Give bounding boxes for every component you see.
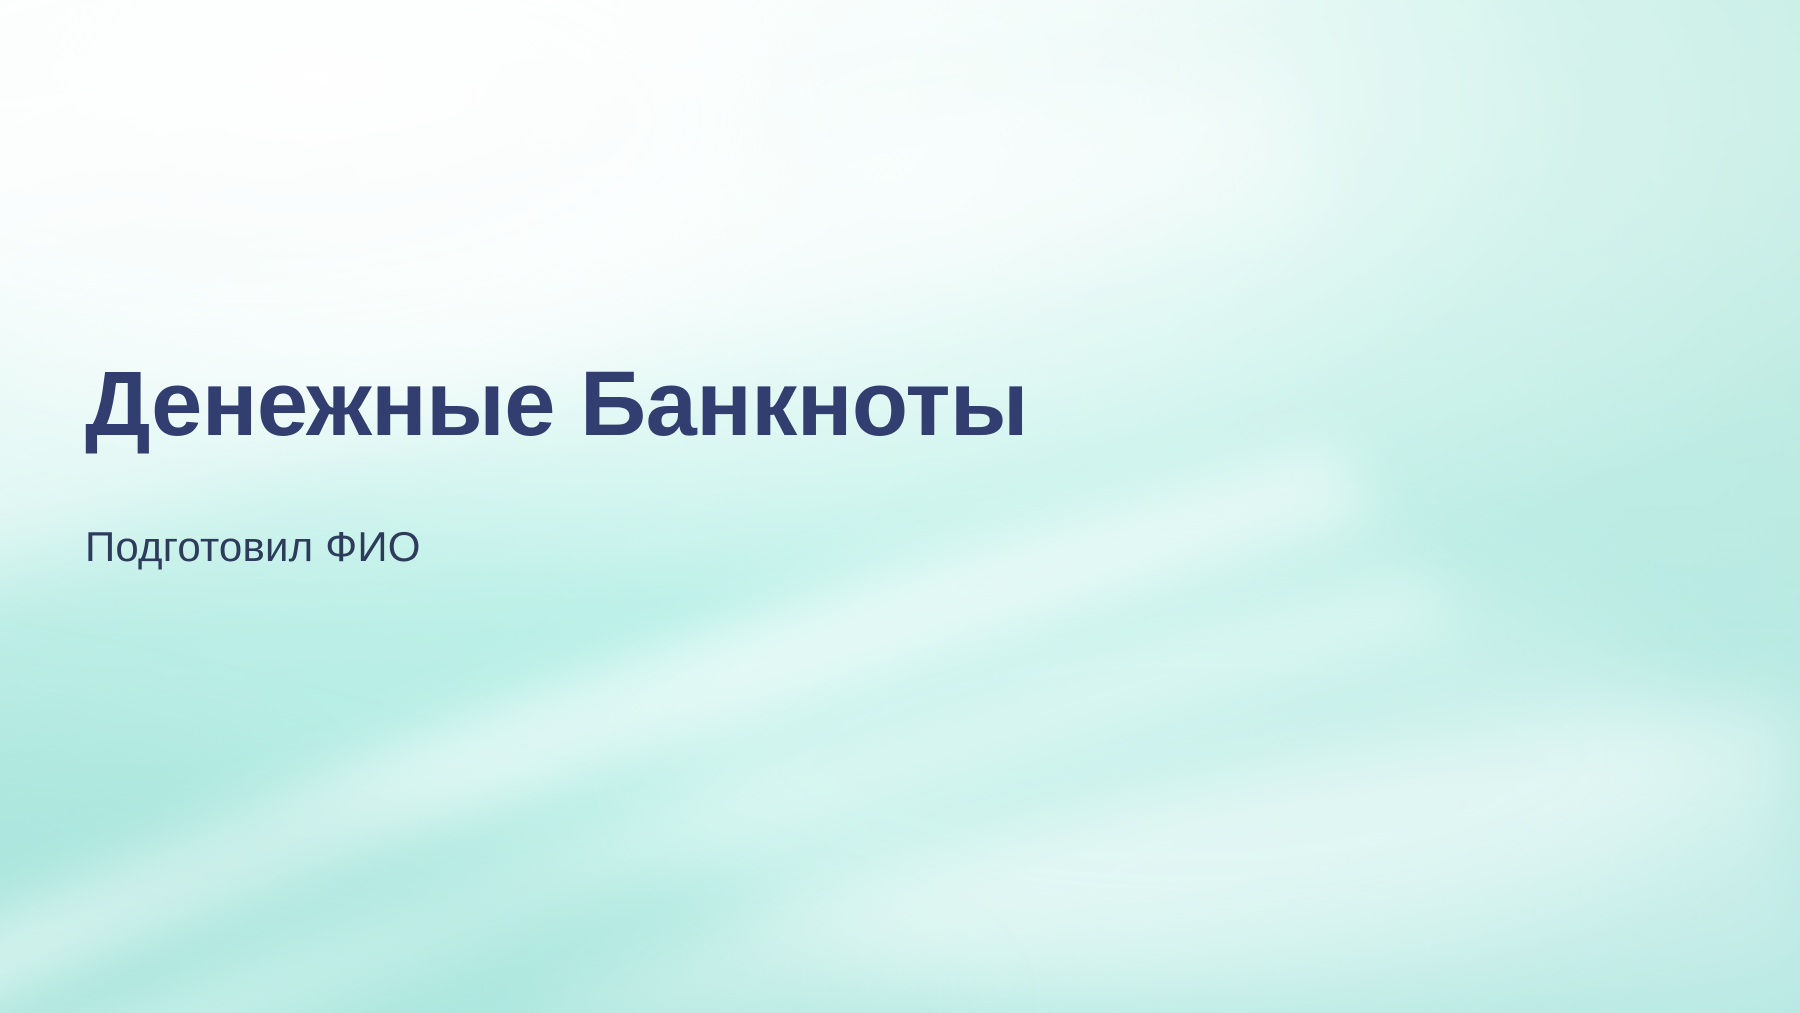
slide-text-block: Денежные Банкноты Подготовил ФИО	[85, 355, 1585, 573]
page-title: Денежные Банкноты	[85, 355, 1585, 454]
title-slide: Денежные Банкноты Подготовил ФИО	[0, 0, 1800, 1013]
slide-subtitle: Подготовил ФИО	[85, 454, 1585, 572]
